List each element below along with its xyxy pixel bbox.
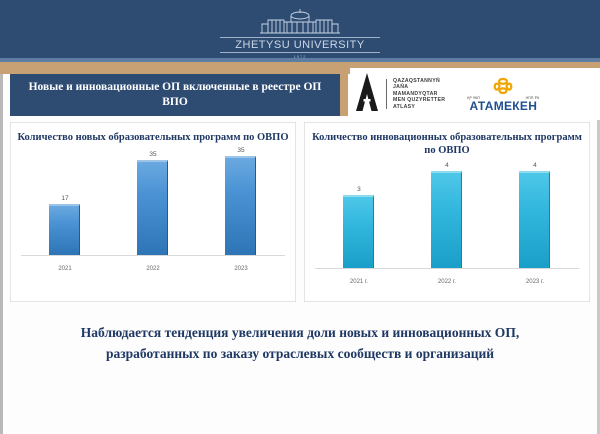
charts-container: Количество новых образовательных програм…	[10, 122, 590, 302]
atlas-letter-a-icon	[354, 72, 380, 117]
university-name: ZHETYSU UNIVERSITY	[220, 37, 380, 53]
bar-item: 4	[403, 159, 491, 268]
bar-group: 3 4 4	[315, 159, 579, 268]
bar	[225, 156, 256, 255]
bar-item: 4	[491, 159, 579, 268]
bar-item: 35	[109, 146, 197, 255]
conclusion-text: Наблюдается тенденция увеличения доли но…	[40, 322, 560, 364]
atameken-ornament-icon	[467, 76, 539, 96]
atlas-line-5: ATLASY	[393, 104, 445, 111]
bar-value-label: 3	[357, 186, 361, 193]
bar-value-label: 35	[237, 147, 244, 154]
chart-panel-innovative-programs: Количество инновационных образовательных…	[304, 122, 590, 302]
category-labels: 2021 2022 2023	[21, 266, 285, 272]
atlas-text: QAZAQSTANNYŃ JAŃA MAMANDYQTAR MEN QUZYRE…	[393, 78, 445, 111]
x-axis-line	[315, 268, 579, 269]
bar-group: 17 35 35	[21, 146, 285, 255]
category-label: 2021 г.	[315, 279, 403, 285]
atameken-wordmark: АТАМЕКЕН	[467, 100, 539, 113]
category-label: 2022	[109, 266, 197, 272]
atameken-logo: ҚР ҰКП НПП РК АТАМЕКЕН	[467, 76, 539, 113]
bar	[137, 160, 168, 255]
atlas-logo: QAZAQSTANNYŃ JAŃA MAMANDYQTAR MEN QUZYRE…	[354, 72, 445, 117]
chart-panel-new-programs: Количество новых образовательных програм…	[10, 122, 296, 302]
category-label: 2023 г.	[491, 279, 579, 285]
bar	[519, 171, 550, 268]
atlas-line-2: JAŃA	[393, 84, 445, 91]
left-edge-bar	[0, 74, 3, 434]
slide: ZHETYSU UNIVERSITY 1972 Новые и инноваци…	[0, 0, 600, 434]
university-logo: ZHETYSU UNIVERSITY 1972	[220, 8, 380, 59]
x-axis-line	[21, 255, 285, 256]
bar-value-label: 17	[61, 195, 68, 202]
category-labels: 2021 г. 2022 г. 2023 г.	[315, 279, 579, 285]
bar-item: 35	[197, 146, 285, 255]
bar	[431, 171, 462, 268]
bar	[49, 204, 80, 255]
chart-title: Количество инновационных образовательных…	[311, 131, 583, 157]
university-year: 1972	[220, 54, 380, 59]
atlas-line-4: MEN QUZYRETTER	[393, 97, 445, 104]
partner-logos: QAZAQSTANNYŃ JAŃA MAMANDYQTAR MEN QUZYRE…	[350, 68, 600, 120]
chart-title: Количество новых образовательных програм…	[17, 131, 289, 144]
header-band: ZHETYSU UNIVERSITY 1972	[0, 0, 600, 62]
slide-title: Новые и инновационные ОП включенные в ре…	[10, 74, 340, 116]
bar-value-label: 35	[149, 151, 156, 158]
bar-value-label: 4	[445, 162, 449, 169]
plot-area: 3 4 4 2021 г. 2022 г. 2023 г.	[311, 159, 583, 287]
category-label: 2022 г.	[403, 279, 491, 285]
atlas-divider	[386, 79, 387, 109]
bar-value-label: 4	[533, 162, 537, 169]
category-label: 2023	[197, 266, 285, 272]
plot-area: 17 35 35 2021 2022 2023	[17, 146, 289, 274]
atlas-line-3: MAMANDYQTAR	[393, 91, 445, 98]
bar-item: 17	[21, 146, 109, 255]
category-label: 2021	[21, 266, 109, 272]
bar	[343, 195, 374, 268]
title-row: Новые и инновационные ОП включенные в ре…	[0, 74, 600, 120]
university-building-icon	[220, 8, 380, 36]
bar-item: 3	[315, 159, 403, 268]
